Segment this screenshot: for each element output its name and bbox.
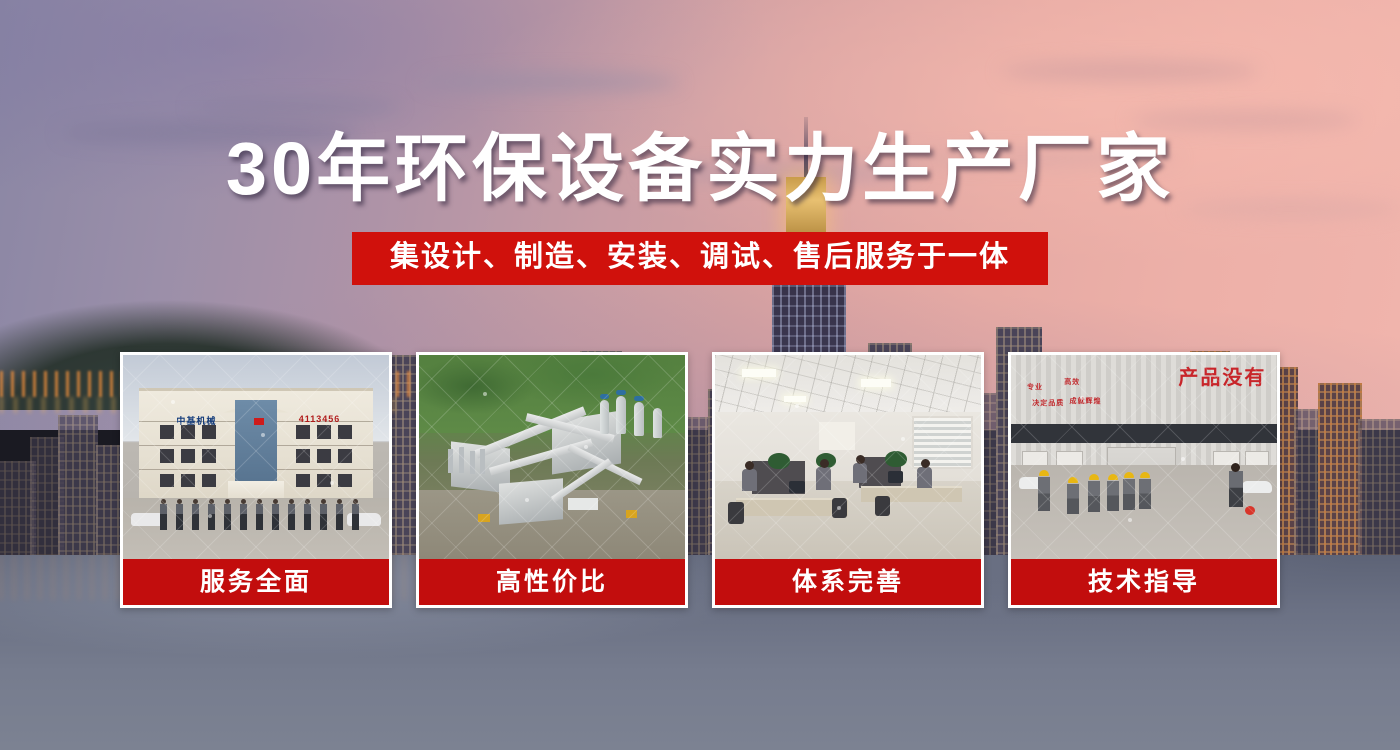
factory-sign-text: 产品没有 xyxy=(1178,361,1266,390)
factory-workers-training-photo: 产品没有 专业 高效 决定品质 成就辉煌 xyxy=(1011,355,1277,559)
cloud-shape xyxy=(420,72,680,92)
building-phone-text: 4113456 xyxy=(299,414,341,424)
wall-poster xyxy=(819,422,855,450)
flag-icon xyxy=(254,418,264,425)
aerial-industrial-plant-photo xyxy=(419,355,685,559)
subtitle-bar: 集设计、制造、安装、调试、售后服务于一体 xyxy=(352,232,1048,285)
page-title: 30年环保设备实力生产厂家 xyxy=(0,132,1400,206)
feature-card-row: 中基机械 4113456 xyxy=(120,352,1280,608)
factory-slogan-text: 决定品质 xyxy=(1032,400,1064,409)
feature-card-label: 服务全面 xyxy=(123,559,389,605)
factory-slogan-text: 成就辉煌 xyxy=(1070,398,1102,407)
company-headquarters-building-photo: 中基机械 4113456 xyxy=(123,355,389,559)
factory-slogan-text: 专业 xyxy=(1027,384,1043,393)
feature-card[interactable]: 产品没有 专业 高效 决定品质 成就辉煌 xyxy=(1008,352,1280,608)
feature-card-label: 高性价比 xyxy=(419,559,685,605)
feature-card[interactable]: 高性价比 xyxy=(416,352,688,608)
factory-slogan-text: 高效 xyxy=(1064,379,1080,388)
promo-banner: 30年环保设备实力生产厂家 集设计、制造、安装、调试、售后服务于一体 中基机械 xyxy=(0,0,1400,750)
cloud-shape xyxy=(1000,60,1260,82)
office-interior-staff-photo xyxy=(715,355,981,559)
red-helmet-icon xyxy=(1245,506,1255,515)
feature-card[interactable]: 体系完善 xyxy=(712,352,984,608)
feature-card-label: 体系完善 xyxy=(715,559,981,605)
feature-card-label: 技术指导 xyxy=(1011,559,1277,605)
feature-card[interactable]: 中基机械 4113456 xyxy=(120,352,392,608)
cloud-shape xyxy=(190,98,400,116)
